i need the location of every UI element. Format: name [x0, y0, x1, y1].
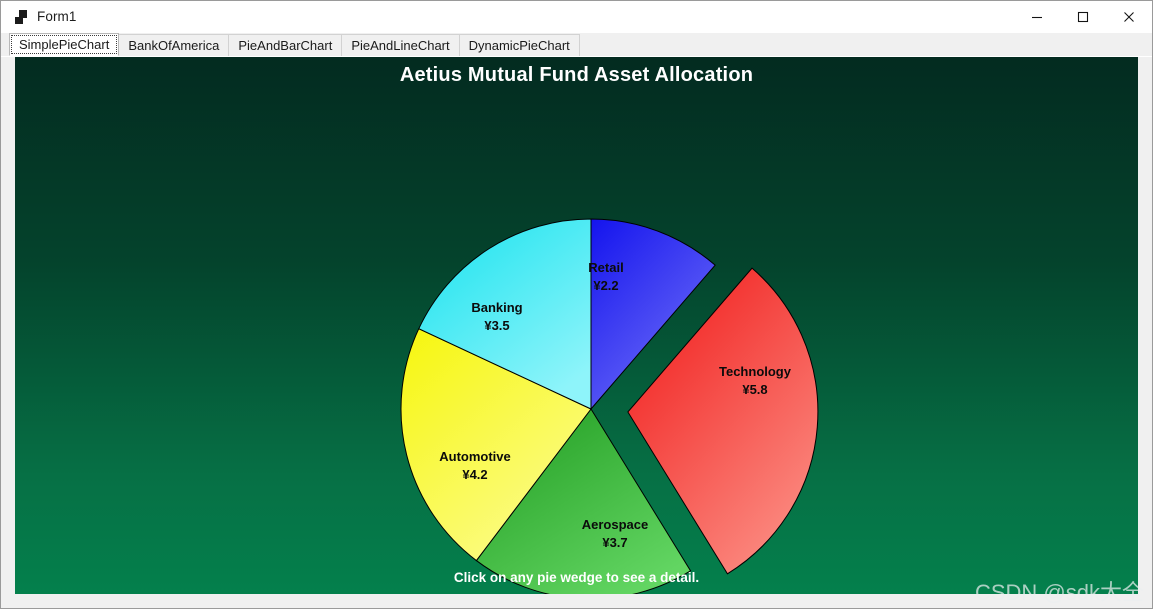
close-icon[interactable]	[1106, 1, 1152, 32]
panel-left-margin	[1, 113, 9, 595]
form-icon	[14, 10, 28, 24]
tab-strip: SimplePieChart BankOfAmerica PieAndBarCh…	[1, 33, 1152, 57]
pie-slice-label-technology: Technology	[719, 364, 792, 379]
pie-slice-value-aerospace: ¥3.7	[602, 535, 627, 550]
pie-chart-svg[interactable]: Retail¥2.2Technology¥5.8Aerospace¥3.7Aut…	[15, 57, 1138, 594]
pie-slice-label-banking: Banking	[471, 300, 522, 315]
title-bar: Form1	[1, 1, 1152, 33]
tab-dynamicpiechart[interactable]: DynamicPieChart	[459, 34, 580, 56]
tab-bankofamerica[interactable]: BankOfAmerica	[118, 34, 229, 56]
pie-chart-panel[interactable]: Aetius Mutual Fund Asset Allocation Reta…	[15, 57, 1138, 594]
tab-simplepiechart[interactable]: SimplePieChart	[9, 33, 119, 56]
window-title: Form1	[37, 9, 77, 24]
panel-bottom-margin	[1, 594, 1152, 608]
chart-footnote: Click on any pie wedge to see a detail.	[15, 570, 1138, 585]
maximize-icon[interactable]	[1060, 1, 1106, 32]
pie-slice-value-banking: ¥3.5	[484, 318, 509, 333]
pie-slice-value-retail: ¥2.2	[593, 278, 618, 293]
pie-slice-label-automotive: Automotive	[439, 449, 511, 464]
pie-slice-value-automotive: ¥4.2	[462, 467, 487, 482]
application-window: Form1 SimplePieChart BankOfAmerica PieAn…	[0, 0, 1153, 609]
window-controls	[1014, 1, 1152, 32]
tab-pieandbarchart[interactable]: PieAndBarChart	[228, 34, 342, 56]
title-bar-left: Form1	[1, 9, 77, 24]
tab-content-host: Aetius Mutual Fund Asset Allocation Reta…	[1, 57, 1152, 608]
minimize-icon[interactable]	[1014, 1, 1060, 32]
pie-slice-value-technology: ¥5.8	[742, 382, 767, 397]
pie-slice-label-aerospace: Aerospace	[582, 517, 648, 532]
tab-pieandlinechart[interactable]: PieAndLineChart	[341, 34, 459, 56]
pie-slice-label-retail: Retail	[588, 260, 623, 275]
